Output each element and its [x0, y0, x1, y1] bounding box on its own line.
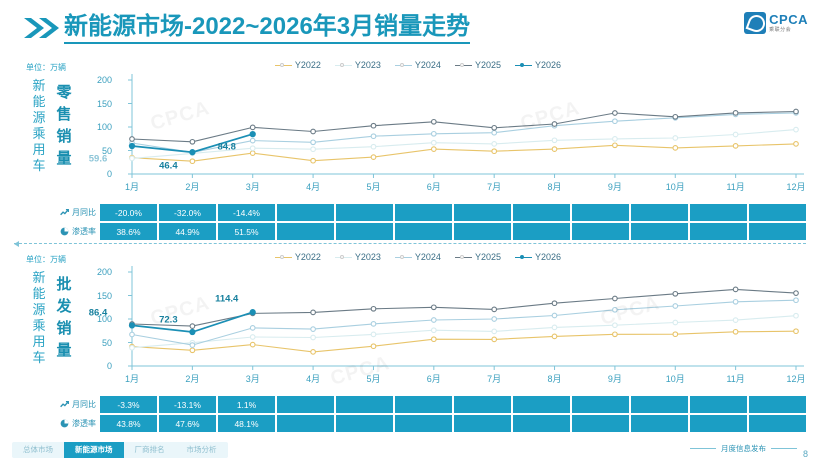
x-tick-2: 2月 [185, 372, 199, 385]
table-cell [454, 396, 511, 413]
table-cell [749, 415, 806, 432]
data-label-86.4: 86.4 [89, 308, 108, 319]
page-header: 新能源市场-2022~2026年3月销量走势 CPCA 乘联分会 [0, 0, 820, 52]
x-tick-6: 6月 [427, 372, 441, 385]
row-cells: -3.3%-13.1%1.1% [100, 396, 806, 413]
y-tick-0: 0 [107, 169, 112, 179]
table-cell [277, 396, 334, 413]
x-tick-1: 1月 [125, 180, 139, 193]
legend-label: Y2025 [475, 252, 501, 262]
table-cell [513, 223, 570, 240]
table-cell [513, 415, 570, 432]
x-tick-8: 8月 [548, 372, 562, 385]
footer-rule-right [771, 448, 797, 449]
wholesale-chart: Y2022Y2023Y2024Y2025Y2026 050100150200 1… [86, 252, 806, 386]
data-label-72.3: 72.3 [159, 315, 178, 326]
legend-swatch-y2026 [515, 65, 532, 66]
y-tick-150: 150 [97, 291, 112, 301]
table-cell [336, 415, 393, 432]
table-cell: -32.0% [159, 204, 216, 221]
wholesale-data-table: 月同比-3.3%-13.1%1.1%渗透率43.8%47.6%48.1% [52, 396, 806, 434]
footer-tab-市场分析[interactable]: 市场分析 [176, 442, 228, 458]
table-cell: 44.9% [159, 223, 216, 240]
footer-tab-厂商排名[interactable]: 厂商排名 [124, 442, 176, 458]
table-cell: 1.1% [218, 396, 275, 413]
y-tick-200: 200 [97, 75, 112, 85]
legend-label: Y2025 [475, 60, 501, 70]
wholesale-x-axis-labels: 1月2月3月4月5月6月7月8月9月10月11月12月 [114, 372, 806, 386]
legend-item-y2022[interactable]: Y2022 [275, 60, 321, 70]
row-label-text: 月同比 [72, 399, 96, 410]
table-cell [572, 396, 629, 413]
x-tick-8: 8月 [548, 180, 562, 193]
x-tick-5: 5月 [366, 372, 380, 385]
legend-swatch-y2022 [275, 65, 292, 66]
table-cell [395, 204, 452, 221]
x-tick-2: 2月 [185, 180, 199, 193]
table-cell [336, 204, 393, 221]
legend-item-y2025[interactable]: Y2025 [455, 252, 501, 262]
trend-chart-icon [60, 208, 69, 217]
legend-swatch-y2024 [395, 257, 412, 258]
cpca-logo-icon [744, 12, 766, 34]
legend-item-y2023[interactable]: Y2023 [335, 252, 381, 262]
table-cell [336, 396, 393, 413]
legend-item-y2024[interactable]: Y2024 [395, 60, 441, 70]
table-cell [749, 396, 806, 413]
x-tick-5: 5月 [366, 180, 380, 193]
y-tick-200: 200 [97, 267, 112, 277]
pie-chart-icon [60, 227, 69, 236]
retail-panel: 单位：万辆 新能源乘用车 零售销量 Y2022Y2023Y2024Y2025Y2… [0, 56, 820, 248]
row-label: 月同比 [52, 396, 100, 413]
table-cell: -20.0% [100, 204, 157, 221]
legend-item-y2022[interactable]: Y2022 [275, 252, 321, 262]
page-number: 8 [803, 449, 808, 459]
x-tick-12: 12月 [786, 180, 805, 193]
legend-label: Y2023 [355, 252, 381, 262]
table-cell [277, 204, 334, 221]
x-tick-10: 10月 [666, 372, 685, 385]
row-label: 月同比 [52, 204, 100, 221]
legend-label: Y2023 [355, 60, 381, 70]
table-cell [395, 396, 452, 413]
table-cell [631, 204, 688, 221]
wholesale-unit-label: 单位：万辆 [26, 254, 66, 265]
x-tick-12: 12月 [786, 372, 805, 385]
table-row: 渗透率38.6%44.9%51.5% [52, 223, 806, 240]
cpca-logo: CPCA 乘联分会 [736, 10, 808, 36]
table-cell [572, 415, 629, 432]
table-cell: 43.8% [100, 415, 157, 432]
footer-center-text: 月度信息发布 [721, 443, 766, 454]
table-cell: -14.4% [218, 204, 275, 221]
table-cell: 48.1% [218, 415, 275, 432]
table-cell [631, 223, 688, 240]
legend-label: Y2024 [415, 252, 441, 262]
wholesale-chart-legend: Y2022Y2023Y2024Y2025Y2026 [275, 252, 561, 262]
footer-tabs[interactable]: 总体市场新能源市场厂商排名市场分析 [12, 442, 228, 458]
table-cell: 38.6% [100, 223, 157, 240]
table-cell: 47.6% [159, 415, 216, 432]
retail-x-axis-labels: 1月2月3月4月5月6月7月8月9月10月11月12月 [114, 180, 806, 194]
retail-data-table: 月同比-20.0%-32.0%-14.4%渗透率38.6%44.9%51.5% [52, 204, 806, 242]
legend-label: Y2026 [535, 252, 561, 262]
legend-swatch-y2022 [275, 257, 292, 258]
x-tick-9: 9月 [608, 372, 622, 385]
row-label-text: 渗透率 [72, 418, 96, 429]
legend-label: Y2026 [535, 60, 561, 70]
legend-swatch-y2023 [335, 65, 352, 66]
x-tick-9: 9月 [608, 180, 622, 193]
footer-tab-总体市场[interactable]: 总体市场 [12, 442, 64, 458]
x-tick-4: 4月 [306, 180, 320, 193]
retail-plot-area [114, 74, 806, 178]
wholesale-panel: 单位：万辆 新能源乘用车 批发销量 Y2022Y2023Y2024Y2025Y2… [0, 248, 820, 440]
table-cell [454, 223, 511, 240]
legend-swatch-y2025 [455, 257, 472, 258]
legend-label: Y2022 [295, 252, 321, 262]
table-cell [395, 223, 452, 240]
x-tick-7: 7月 [487, 180, 501, 193]
panel-divider [14, 243, 806, 245]
x-tick-10: 10月 [666, 180, 685, 193]
pie-chart-icon [60, 419, 69, 428]
x-tick-11: 11月 [726, 180, 744, 193]
table-cell [690, 415, 747, 432]
data-label-114.4: 114.4 [215, 294, 238, 305]
x-tick-11: 11月 [726, 372, 744, 385]
row-cells: -20.0%-32.0%-14.4% [100, 204, 806, 221]
page-title: 新能源市场-2022~2026年3月销量走势 [64, 13, 470, 44]
legend-item-y2025[interactable]: Y2025 [455, 60, 501, 70]
y-tick-50: 50 [102, 338, 112, 348]
double-chevron-right-icon [22, 17, 62, 39]
table-cell [395, 415, 452, 432]
row-label: 渗透率 [52, 223, 100, 240]
row-cells: 43.8%47.6%48.1% [100, 415, 806, 432]
row-cells: 38.6%44.9%51.5% [100, 223, 806, 240]
table-cell [690, 204, 747, 221]
y-tick-150: 150 [97, 99, 112, 109]
table-cell [336, 223, 393, 240]
footer-rule-left [690, 448, 716, 449]
table-cell [513, 204, 570, 221]
table-cell [749, 204, 806, 221]
legend-item-y2024[interactable]: Y2024 [395, 252, 441, 262]
table-cell [454, 204, 511, 221]
y-tick-0: 0 [107, 361, 112, 371]
wholesale-category-label: 新能源乘用车 [28, 270, 50, 366]
table-cell [572, 204, 629, 221]
legend-label: Y2024 [415, 60, 441, 70]
footer-center: 月度信息发布 [690, 443, 797, 454]
data-label-59.6: 59.6 [89, 153, 108, 164]
retail-category-label: 新能源乘用车 [28, 78, 50, 174]
table-cell [572, 223, 629, 240]
row-label-text: 月同比 [72, 207, 96, 218]
table-cell [690, 396, 747, 413]
wholesale-plot-area [114, 266, 806, 370]
x-tick-6: 6月 [427, 180, 441, 193]
table-cell [277, 223, 334, 240]
table-cell [631, 415, 688, 432]
legend-item-y2026[interactable]: Y2026 [515, 60, 561, 70]
table-cell: 51.5% [218, 223, 275, 240]
trend-chart-icon [60, 400, 69, 409]
table-row: 月同比-20.0%-32.0%-14.4% [52, 204, 806, 221]
x-tick-7: 7月 [487, 372, 501, 385]
table-cell [454, 415, 511, 432]
retail-chart: Y2022Y2023Y2024Y2025Y2026 050100150200 1… [86, 60, 806, 194]
table-row: 月同比-3.3%-13.1%1.1% [52, 396, 806, 413]
page-footer: 总体市场新能源市场厂商排名市场分析 月度信息发布 8 [0, 440, 820, 462]
table-cell [690, 223, 747, 240]
legend-item-y2023[interactable]: Y2023 [335, 60, 381, 70]
legend-swatch-y2026 [515, 257, 532, 258]
table-row: 渗透率43.8%47.6%48.1% [52, 415, 806, 432]
table-cell [513, 396, 570, 413]
legend-swatch-y2024 [395, 65, 412, 66]
y-tick-100: 100 [97, 122, 112, 132]
data-label-84.8: 84.8 [217, 142, 236, 153]
x-tick-4: 4月 [306, 372, 320, 385]
logo-sub: 乘联分会 [769, 28, 808, 33]
x-tick-3: 3月 [246, 180, 260, 193]
table-cell: -13.1% [159, 396, 216, 413]
x-tick-3: 3月 [246, 372, 260, 385]
retail-chart-legend: Y2022Y2023Y2024Y2025Y2026 [275, 60, 561, 70]
legend-swatch-y2025 [455, 65, 472, 66]
legend-swatch-y2023 [335, 257, 352, 258]
legend-item-y2026[interactable]: Y2026 [515, 252, 561, 262]
footer-tab-新能源市场[interactable]: 新能源市场 [64, 442, 124, 458]
row-label: 渗透率 [52, 415, 100, 432]
wholesale-metric-label: 批发销量 [52, 274, 76, 362]
data-label-46.4: 46.4 [159, 161, 178, 172]
table-cell [277, 415, 334, 432]
retail-metric-label: 零售销量 [52, 82, 76, 170]
table-cell [631, 396, 688, 413]
legend-label: Y2022 [295, 60, 321, 70]
retail-unit-label: 单位：万辆 [26, 62, 66, 73]
table-cell: -3.3% [100, 396, 157, 413]
logo-abbr: CPCA [769, 13, 808, 26]
x-tick-1: 1月 [125, 372, 139, 385]
table-cell [749, 223, 806, 240]
row-label-text: 渗透率 [72, 226, 96, 237]
